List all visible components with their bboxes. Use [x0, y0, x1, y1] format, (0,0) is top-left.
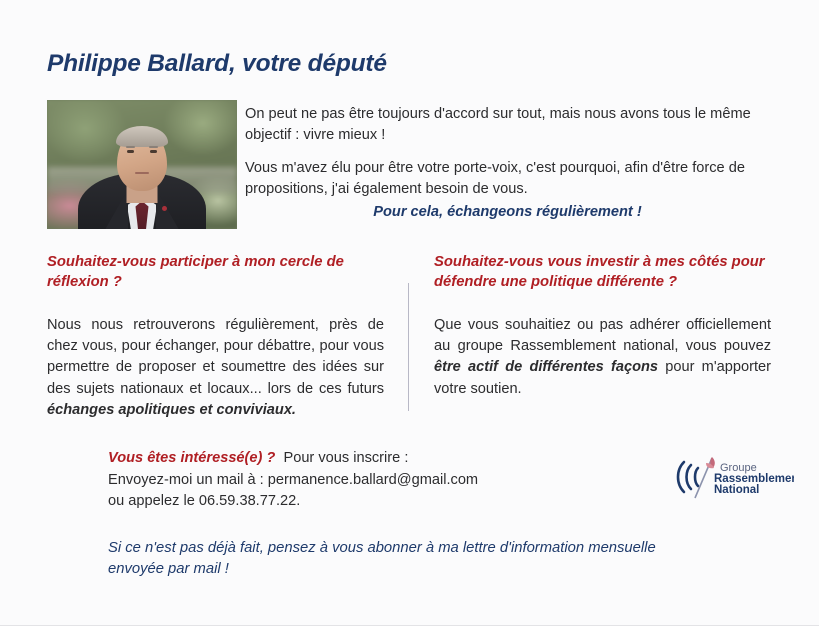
portrait-lapel-pin [162, 206, 167, 211]
contact-lead-line: Vous êtes intéressé(e) ? Pour vous inscr… [108, 448, 478, 470]
newsletter-footnote: Si ce n'est pas déjà fait, pensez à vous… [108, 538, 708, 580]
column-right-body-emphasis: être actif de différentes façons [434, 359, 658, 375]
contact-block: Vous êtes intéressé(e) ? Pour vous inscr… [108, 448, 478, 513]
newsletter-page: Philippe Ballard, votre député On peut n… [0, 0, 819, 626]
portrait-eye-right [150, 150, 157, 153]
portrait-eyebrow-left [126, 146, 135, 148]
contact-highlight: Vous êtes intéressé(e) ? [108, 450, 275, 466]
column-divider [408, 283, 409, 411]
intro-callout: Pour cela, échangeons régulièrement ! [245, 204, 770, 220]
contact-phone-line[interactable]: ou appelez le 06.59.38.77.22. [108, 491, 478, 513]
contact-lead: Pour vous inscrire : [283, 450, 408, 466]
intro-paragraph-2: Vous m'avez élu pour être votre porte-vo… [245, 158, 770, 199]
portrait-eye-left [127, 150, 134, 153]
portrait-mouth [135, 172, 149, 175]
rn-logo-mark-icon: Groupe Rassemblement National [668, 452, 794, 502]
intro-paragraph-1: On peut ne pas être toujours d'accord su… [245, 104, 770, 145]
logo-line-3: National [714, 484, 759, 496]
contact-email-line[interactable]: Envoyez-moi un mail à : permanence.balla… [108, 470, 478, 492]
portrait-photo [47, 100, 237, 229]
column-right-body: Que vous souhaitiez ou pas adhérer offic… [434, 315, 771, 400]
groupe-rassemblement-national-logo: Groupe Rassemblement National [668, 452, 794, 502]
column-right-body-part-1: Que vous souhaitiez ou pas adhérer offic… [434, 317, 771, 354]
intro-text: On peut ne pas être toujours d'accord su… [245, 104, 770, 200]
column-left-heading: Souhaitez-vous participer à mon cercle d… [47, 252, 384, 293]
column-left-body-plain: Nous nous retrouverons régulièrement, pr… [47, 317, 384, 397]
column-left-body: Nous nous retrouverons régulièrement, pr… [47, 315, 384, 421]
column-right: Souhaitez-vous vous investir à mes côtés… [434, 252, 771, 400]
column-left: Souhaitez-vous participer à mon cercle d… [47, 252, 384, 421]
column-right-heading: Souhaitez-vous vous investir à mes côtés… [434, 252, 771, 293]
page-title: Philippe Ballard, votre député [47, 50, 387, 78]
portrait-eyebrow-right [149, 146, 158, 148]
column-left-body-emphasis: échanges apolitiques et conviviaux. [47, 402, 296, 418]
